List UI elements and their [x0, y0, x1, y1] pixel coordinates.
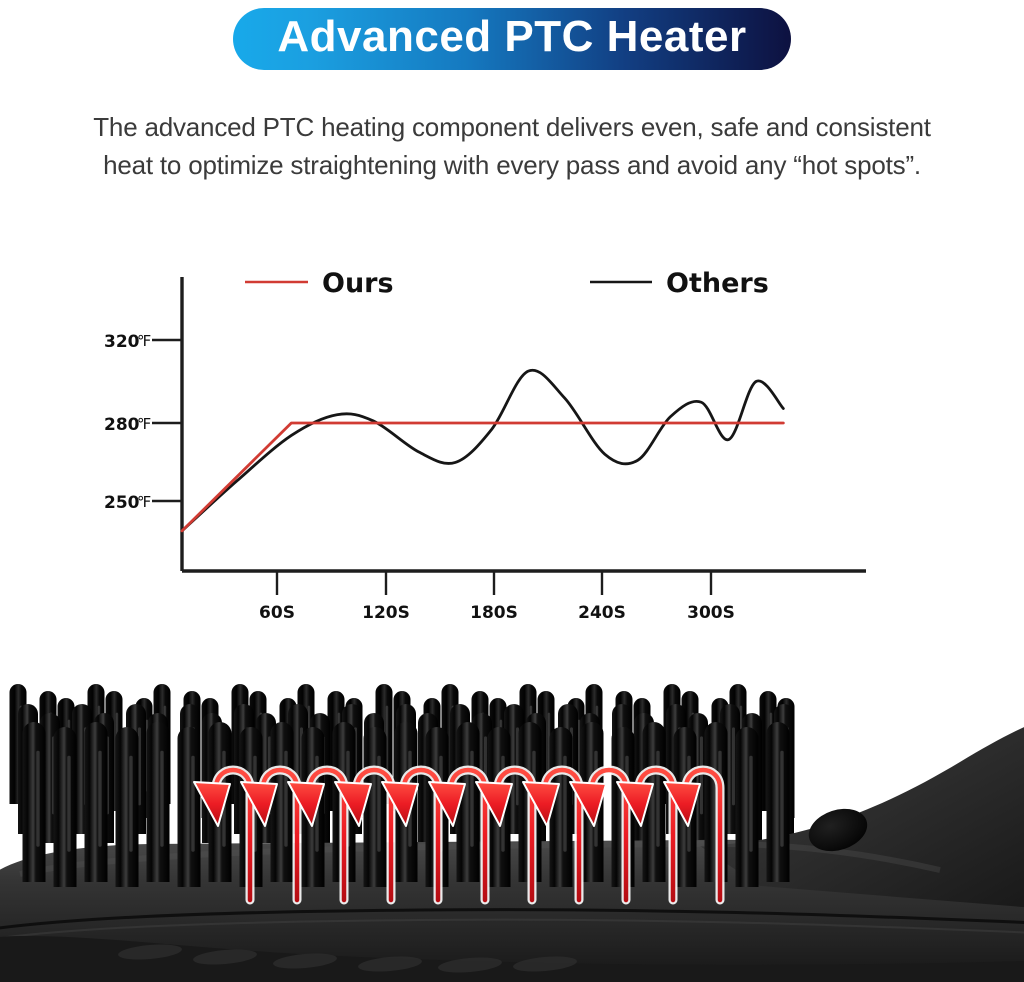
bristle: [178, 727, 201, 887]
bristle: [364, 727, 387, 887]
bristle-highlight: [129, 756, 132, 852]
x-axis-ticks: [277, 571, 711, 595]
x-axis-labels: 60S 120S 180S 240S 300S: [259, 603, 735, 623]
bristle-highlight: [67, 756, 70, 852]
title-banner: Advanced PTC Heater: [0, 8, 1024, 70]
bristle-highlight: [160, 751, 163, 847]
product-photo: [0, 660, 1024, 982]
y-label-280-unit: ℉: [137, 415, 151, 433]
legend-item-ours: Ours: [245, 268, 394, 299]
bristle: [116, 727, 139, 887]
temperature-chart: Ours Others 320 ℉ 280 ℉: [0, 240, 1024, 640]
y-label-250-number: 250: [104, 493, 140, 513]
bristle-highlight: [732, 727, 735, 805]
product-illustration: [0, 660, 1024, 982]
bristle: [23, 722, 46, 882]
bristle: [85, 722, 108, 882]
bristle: [54, 727, 77, 887]
x-label-300s: 300S: [687, 603, 735, 623]
x-label-120s: 120S: [362, 603, 410, 623]
bristle-highlight: [284, 751, 287, 847]
y-label-320-number: 320: [104, 332, 140, 352]
bristle-highlight: [780, 751, 783, 847]
y-axis-ticks: [152, 340, 182, 501]
bristle-highlight: [749, 756, 752, 852]
bristle: [767, 722, 790, 882]
y-label-280-number: 280: [104, 415, 140, 435]
bristle: [147, 722, 170, 882]
x-label-180s: 180S: [470, 603, 518, 623]
bristle-highlight: [656, 751, 659, 847]
legend-item-others: Others: [590, 268, 769, 299]
y-label-320-unit: ℉: [137, 332, 151, 350]
legend-label-others: Others: [666, 268, 769, 299]
page-title: Advanced PTC Heater: [233, 8, 790, 70]
bristle-highlight: [700, 736, 703, 814]
bristle: [271, 722, 294, 882]
bristle-highlight: [191, 756, 194, 852]
x-label-240s: 240S: [578, 603, 626, 623]
y-axis-labels: 320 ℉ 280 ℉ 250 ℉: [104, 332, 151, 513]
legend-label-ours: Ours: [322, 268, 394, 299]
series-line-others: [182, 370, 783, 531]
x-label-60s: 60S: [259, 603, 295, 623]
bristle-highlight: [36, 751, 39, 847]
y-label-250-unit: ℉: [137, 493, 151, 511]
product-infographic-page: Advanced PTC Heater The advanced PTC hea…: [0, 0, 1024, 982]
chart-svg: Ours Others 320 ℉ 280 ℉: [0, 240, 1024, 640]
bristle: [736, 727, 759, 887]
description-line-2: heat to optimize straightening with ever…: [0, 146, 1024, 184]
bristle-highlight: [470, 751, 473, 847]
bristle-highlight: [98, 751, 101, 847]
description-paragraph: The advanced PTC heating component deliv…: [0, 108, 1024, 184]
description-line-1: The advanced PTC heating component deliv…: [0, 108, 1024, 146]
